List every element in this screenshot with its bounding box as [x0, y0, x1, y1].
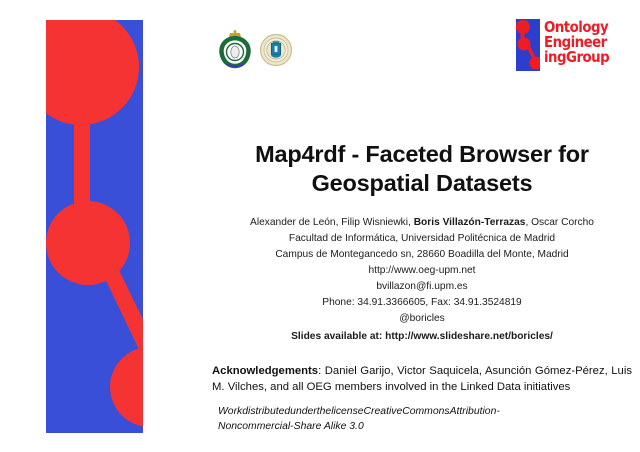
- universidad-politecnica-madrid-seal: [259, 28, 293, 70]
- slides-available-link: Slides available at: http://www.slidesha…: [212, 329, 632, 345]
- author-phone-fax: Phone: 34.91.3366605, Fax: 34.91.3524819: [212, 295, 632, 311]
- institution-seals: [218, 27, 296, 71]
- acknowledgements-separator: :: [318, 365, 325, 377]
- oeg-logo-line-3: ingGroup: [544, 50, 609, 65]
- author-website: http://www.oeg-upm.net: [212, 263, 632, 279]
- slide-content: Map4rdf - Faceted Browser for Geospatial…: [212, 140, 632, 434]
- author-twitter: @boricles: [212, 311, 632, 327]
- author-names-suffix: , Oscar Corcho: [525, 217, 594, 228]
- title-line-2: Geospatial Datasets: [312, 170, 533, 196]
- author-name-highlight: Boris Villazón-Terrazas: [414, 217, 526, 228]
- acknowledgements-label: Acknowledgements: [212, 365, 318, 377]
- oeg-logo-wordmark: Ontology Engineer ingGroup: [544, 19, 620, 66]
- oeg-node-graph-graphic: [46, 20, 143, 433]
- acknowledgements-block: Acknowledgements: Daniel Garijo, Victor …: [212, 363, 632, 395]
- ontology-engineering-group-logo: Ontology Engineer ingGroup: [516, 19, 602, 74]
- license-line-2: Noncommercial-Share Alike 3.0: [218, 419, 632, 434]
- upm-facultad-informatica-seal: [218, 28, 252, 70]
- presentation-title-slide: Ontology Engineer ingGroup Map4rdf - Fac…: [0, 0, 640, 452]
- title-line-1: Map4rdf - Faceted Browser for: [255, 141, 589, 167]
- oeg-logo-mark-icon: [516, 19, 540, 71]
- license-notice: WorkdistributedunderthelicenseCreativeCo…: [218, 404, 632, 434]
- author-address: Campus de Montegancedo sn, 28660 Boadill…: [212, 247, 632, 263]
- author-affiliation: Facultad de Informática, Universidad Pol…: [212, 231, 632, 247]
- page-title: Map4rdf - Faceted Browser for Geospatial…: [212, 140, 632, 197]
- author-names: Alexander de León, Filip Wisniewki, Bori…: [212, 215, 632, 231]
- author-block: Alexander de León, Filip Wisniewki, Bori…: [212, 215, 632, 344]
- license-line-1: WorkdistributedunderthelicenseCreativeCo…: [218, 404, 632, 419]
- author-email: bvillazon@fi.upm.es: [212, 279, 632, 295]
- author-names-prefix: Alexander de León, Filip Wisniewki,: [250, 217, 414, 228]
